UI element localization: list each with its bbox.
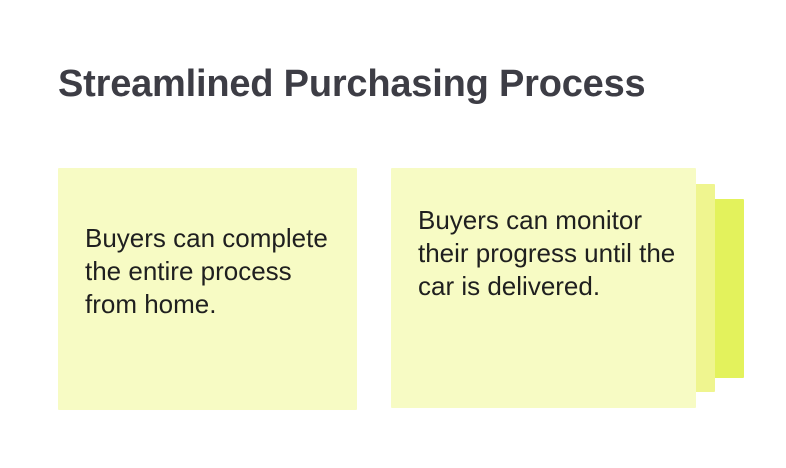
card-progress-tracking-group: Buyers can monitor their progress until … — [391, 168, 725, 410]
slide-canvas: Streamlined Purchasing Process Buyers ca… — [0, 0, 786, 468]
card-progress-tracking-text: Buyers can monitor their progress until … — [418, 204, 678, 303]
card-home-purchase[interactable]: Buyers can complete the entire process f… — [58, 168, 357, 410]
card-home-purchase-group: Buyers can complete the entire process f… — [58, 168, 357, 410]
card-home-purchase-text: Buyers can complete the entire process f… — [85, 222, 339, 321]
card-progress-tracking[interactable]: Buyers can monitor their progress until … — [391, 168, 696, 408]
card-stack-layer-back — [710, 199, 744, 378]
card-group-container: Buyers can complete the entire process f… — [0, 0, 786, 468]
